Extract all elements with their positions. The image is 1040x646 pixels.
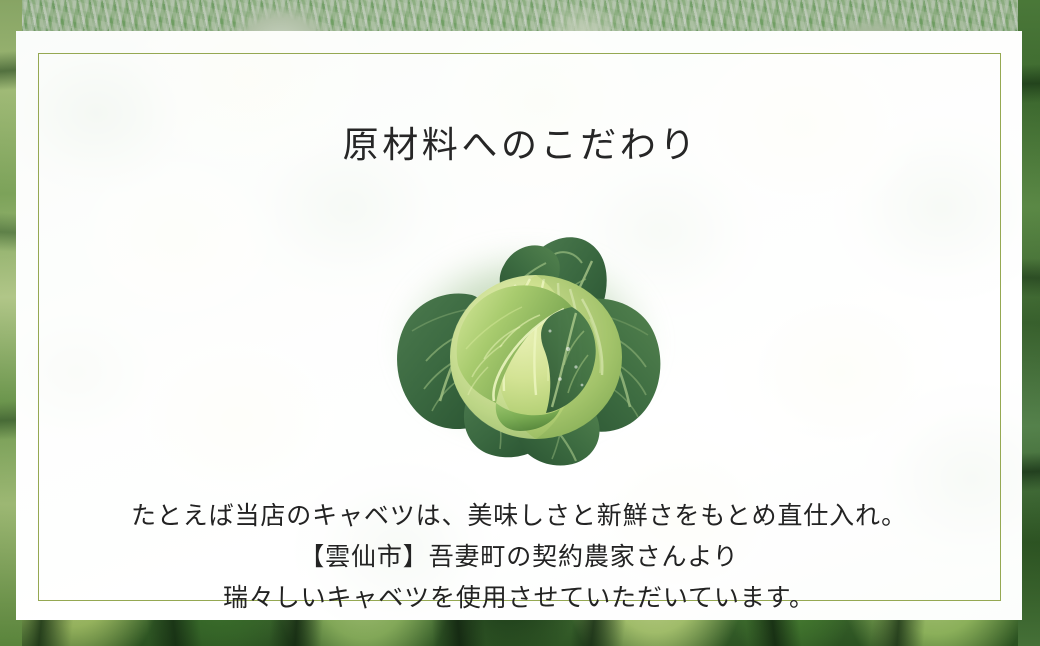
body-line-3: 瑞々しいキャベツを使用させていただいています。 (16, 578, 1022, 619)
body-line-2: 【雲仙市】吾妻町の契約農家さんより (16, 537, 1022, 578)
content-card: 原材料へのこだわり (16, 31, 1022, 620)
cabbage-icon (354, 209, 698, 477)
slide-canvas: 原材料へのこだわり (0, 0, 1040, 646)
body-copy: たとえば当店のキャベツは、美味しさと新鮮さをもとめ直仕入れ。 【雲仙市】吾妻町の… (16, 496, 1022, 619)
body-line-1: たとえば当店のキャベツは、美味しさと新鮮さをもとめ直仕入れ。 (16, 496, 1022, 537)
hero-image (354, 209, 698, 477)
page-title: 原材料へのこだわり (16, 127, 1022, 163)
